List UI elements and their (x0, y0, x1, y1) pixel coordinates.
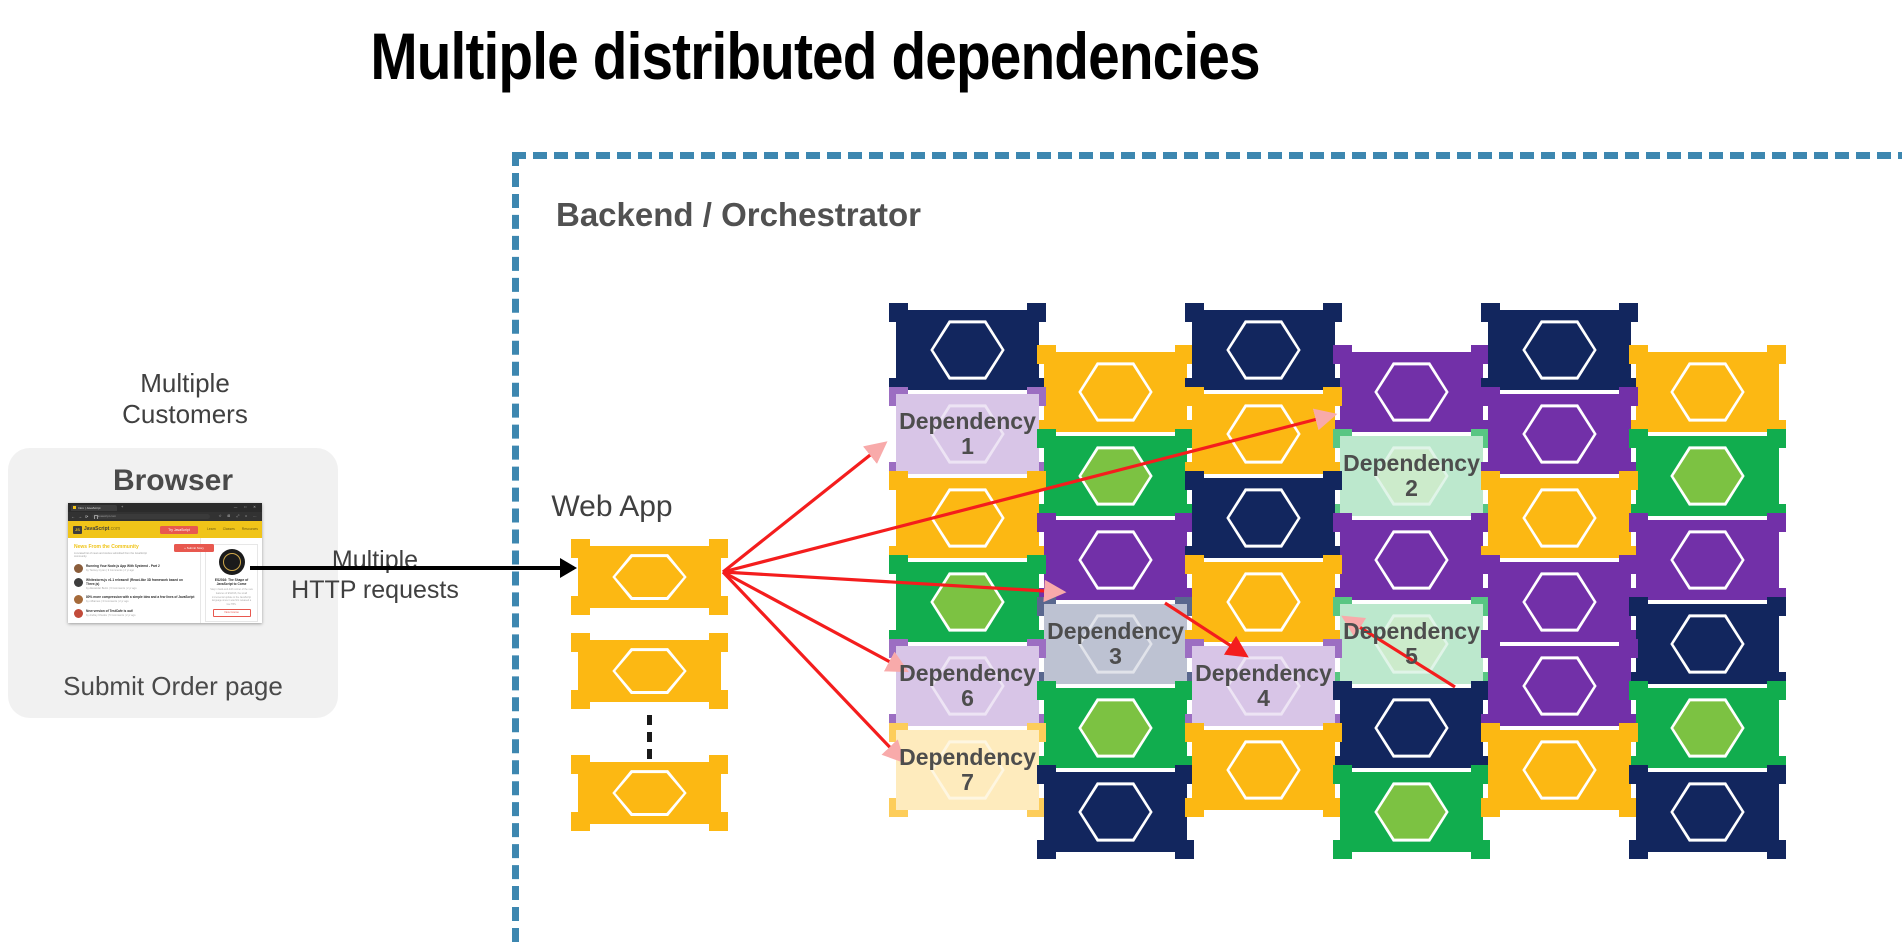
dependency-label: Dependency5 (1340, 604, 1483, 684)
hexagon-icon (1374, 698, 1448, 757)
thumbnail-sidebar-card: ES2016: The Shape of JavaScript to Come … (205, 544, 258, 622)
dependency-label: Dependency7 (896, 730, 1039, 810)
browser-title: Browser (8, 464, 338, 498)
service-icon (896, 562, 1039, 642)
customers-label-line1: Multiple (60, 368, 310, 399)
service-card[interactable] (1488, 310, 1631, 390)
hexagon-icon (1670, 782, 1744, 841)
thumbnail-story-text: Running Your Node.js App With Systemd - … (86, 564, 160, 573)
service-icon (1488, 730, 1631, 810)
service-card[interactable] (1192, 730, 1335, 810)
dependency-card[interactable]: Dependency6 (896, 646, 1039, 726)
service-card[interactable] (1044, 352, 1187, 432)
thumbnail-nav-link: Learn (207, 527, 216, 531)
dependency-label-number: 3 (1109, 644, 1122, 669)
web-app-instance[interactable] (578, 546, 721, 608)
service-card[interactable] (896, 478, 1039, 558)
hexagon-icon (1374, 362, 1448, 421)
hexagon-icon (1374, 530, 1448, 589)
hexagon-icon (1078, 446, 1152, 505)
web-app-instance[interactable] (578, 640, 721, 702)
service-card[interactable] (1488, 478, 1631, 558)
service-card[interactable] (1636, 436, 1779, 516)
hexagon-icon (612, 554, 686, 600)
service-icon (1488, 646, 1631, 726)
service-card[interactable] (1192, 310, 1335, 390)
thumbnail-headline-text: News From the Community (74, 544, 139, 550)
service-icon (1488, 478, 1631, 558)
hexagon-icon (1670, 530, 1744, 589)
dependency-label-number: 1 (961, 434, 974, 459)
slide-canvas: Multiple distributed dependencies Backen… (0, 0, 1902, 936)
dependency-label-text: Dependency (899, 409, 1036, 434)
thumbnail-site-brand: JavaScript.com (84, 526, 120, 532)
service-card[interactable] (1636, 352, 1779, 432)
service-card[interactable] (1044, 772, 1187, 852)
hexagon-icon (1670, 698, 1744, 757)
hexagon-icon (1226, 404, 1300, 463)
service-icon (578, 762, 721, 824)
thumbnail-story-item: Whitestorm.js v1.1 released! (React-like… (74, 578, 195, 590)
web-app-label: Web App (512, 490, 712, 524)
thumbnail-card-button: View Course (213, 609, 251, 617)
hexagon-icon (1078, 530, 1152, 589)
browser-screenshot-thumbnail: Intro | JavaScript + — □ ✕ ← → ⟳ javascr… (68, 503, 262, 623)
thumbnail-tab: Intro | JavaScript (71, 505, 117, 511)
thumbnail-card-title: ES2016: The Shape of JavaScript to Come (210, 578, 253, 586)
thumbnail-story-meta: by Alexander Buzin | 6 Comments | 2 yr a… (86, 587, 195, 590)
service-icon (1044, 688, 1187, 768)
hexagon-icon (1374, 782, 1448, 841)
service-card[interactable] (1340, 352, 1483, 432)
service-card[interactable] (1488, 394, 1631, 474)
hexagon-icon (1670, 362, 1744, 421)
thumbnail-url-bar: javascript.com (92, 514, 210, 520)
service-card[interactable] (1636, 520, 1779, 600)
dependency-label-number: 7 (961, 770, 974, 795)
service-card[interactable] (1044, 436, 1187, 516)
thumbnail-nav-link: Resources (242, 527, 258, 531)
service-icon (1044, 520, 1187, 600)
service-icon (1488, 310, 1631, 390)
hexagon-icon (1226, 740, 1300, 799)
dependency-card[interactable]: Dependency7 (896, 730, 1039, 810)
thumbnail-story-text: 80% more compression with a simple idea … (86, 595, 194, 604)
service-icon (578, 546, 721, 608)
hexagon-icon (1670, 614, 1744, 673)
thumbnail-toolbar-icons: ☆ ⊞ ⤢ ⌂ … (219, 514, 259, 518)
thumbnail-avatar-icon (74, 595, 83, 604)
thumbnail-back-icon: ← (71, 514, 75, 519)
dependency-card[interactable]: Dependency5 (1340, 604, 1483, 684)
web-app-ellipsis-connector (647, 715, 656, 759)
hexagon-icon (1522, 488, 1596, 547)
service-icon (1636, 688, 1779, 768)
service-card[interactable] (1636, 772, 1779, 852)
thumbnail-submit-story-button: + Submit Story (174, 544, 214, 552)
thumbnail-window-controls-icon: — □ ✕ (234, 505, 259, 509)
service-icon (896, 310, 1039, 390)
http-label-line2: HTTP requests (280, 575, 470, 605)
dependency-label-text: Dependency (1195, 661, 1332, 686)
service-icon (1192, 478, 1335, 558)
dependency-label: Dependency2 (1340, 436, 1483, 516)
hexagon-icon (1522, 320, 1596, 379)
thumbnail-story-item: New version of TestCafe is out!by Andrey… (74, 609, 195, 618)
thumbnail-avatar-icon (74, 578, 83, 587)
dependency-label-text: Dependency (899, 745, 1036, 770)
hexagon-icon (612, 770, 686, 816)
thumbnail-cta-button: Try JavaScript (160, 526, 198, 534)
thumbnail-story-item: Running Your Node.js App With Systemd - … (74, 564, 195, 573)
thumbnail-nav-links: Learn Classes Resources (207, 527, 258, 531)
thumbnail-tab-bar: Intro | JavaScript + — □ ✕ (68, 503, 262, 512)
thumbnail-story-item: 80% more compression with a simple idea … (74, 595, 195, 604)
service-card[interactable] (1488, 646, 1631, 726)
service-card[interactable] (896, 562, 1039, 642)
hexagon-icon (1522, 656, 1596, 715)
dependency-card[interactable]: Dependency3 (1044, 604, 1187, 684)
service-card[interactable] (1488, 562, 1631, 642)
thumbnail-nav-link: Classes (223, 527, 235, 531)
web-app-instance[interactable] (578, 762, 721, 824)
service-icon (578, 640, 721, 702)
dependency-label-number: 6 (961, 686, 974, 711)
hexagon-icon (1226, 488, 1300, 547)
dependency-label-text: Dependency (1343, 619, 1480, 644)
service-card[interactable] (1044, 520, 1187, 600)
customers-label-line2: Customers (60, 399, 310, 430)
service-card[interactable] (1488, 730, 1631, 810)
page-title: Multiple distributed dependencies (114, 18, 1516, 94)
thumbnail-story-meta: by Tierney Cyren | 9 Comments | 2 yr ago (86, 569, 160, 572)
service-icon (1636, 772, 1779, 852)
thumbnail-story-title: Running Your Node.js App With Systemd - … (86, 564, 160, 568)
browser-caption: Submit Order page (8, 671, 338, 702)
thumbnail-course-badge-icon (219, 549, 245, 575)
thumbnail-subtitle: A curated list of news and stories submi… (74, 552, 149, 560)
thumbnail-story-title: Whitestorm.js v1.1 released! (React-like… (86, 578, 195, 586)
service-icon (1192, 394, 1335, 474)
service-card[interactable] (1192, 394, 1335, 474)
dependency-card[interactable]: Dependency4 (1192, 646, 1335, 726)
service-icon (1340, 688, 1483, 768)
service-card[interactable] (1340, 688, 1483, 768)
hexagon-icon (612, 648, 686, 694)
hexagon-icon (1522, 572, 1596, 631)
dependency-label: Dependency4 (1192, 646, 1335, 726)
thumbnail-nav-bar: ← → ⟳ javascript.com ☆ ⊞ ⤢ ⌂ … (68, 512, 262, 521)
http-requests-arrow (250, 566, 574, 570)
thumbnail-avatar-icon (74, 564, 83, 573)
service-card[interactable] (1636, 688, 1779, 768)
hexagon-icon (1078, 362, 1152, 421)
dependency-label-number: 5 (1405, 644, 1418, 669)
hexagon-icon (1522, 404, 1596, 463)
service-icon (1044, 352, 1187, 432)
hexagon-icon (1078, 698, 1152, 757)
service-card[interactable] (1192, 478, 1335, 558)
service-icon (1636, 436, 1779, 516)
service-icon (1192, 730, 1335, 810)
dependency-label-number: 4 (1257, 686, 1270, 711)
service-card[interactable] (1044, 688, 1187, 768)
service-card[interactable] (896, 310, 1039, 390)
service-icon (1340, 772, 1483, 852)
service-icon (1192, 310, 1335, 390)
dependency-card[interactable]: Dependency1 (896, 394, 1039, 474)
thumbnail-story-title: 80% more compression with a simple idea … (86, 595, 194, 599)
hexagon-icon (1522, 740, 1596, 799)
service-icon (1340, 520, 1483, 600)
dependency-label-number: 2 (1405, 476, 1418, 501)
service-icon (1044, 436, 1187, 516)
hexagon-icon (930, 488, 1004, 547)
thumbnail-page-body: News From the Community A curated list o… (68, 538, 262, 623)
dependency-label: Dependency6 (896, 646, 1039, 726)
thumbnail-story-meta: by Andrey Chudov | 5 Comments | 2 yr ago (86, 614, 136, 617)
thumbnail-card-body: Stay in back-and-forth corner of the new… (210, 588, 253, 606)
hexagon-icon (1078, 782, 1152, 841)
dependency-label-text: Dependency (1047, 619, 1184, 644)
thumbnail-brand-tld: .com (109, 526, 120, 532)
thumbnail-story-text: Whitestorm.js v1.1 released! (React-like… (86, 578, 195, 590)
thumbnail-site-header: JS JavaScript.com Try JavaScript Learn C… (68, 521, 262, 538)
service-card[interactable] (1636, 604, 1779, 684)
thumbnail-story-title: New version of TestCafe is out! (86, 609, 136, 613)
hexagon-icon (930, 572, 1004, 631)
hexagon-icon (1226, 572, 1300, 631)
http-label-line1: Multiple (280, 545, 470, 575)
dependency-label-text: Dependency (1343, 451, 1480, 476)
service-card[interactable] (1340, 772, 1483, 852)
backend-orchestrator-title: Backend / Orchestrator (556, 196, 921, 234)
thumbnail-avatar-icon (74, 609, 83, 618)
hexagon-icon (1226, 320, 1300, 379)
thumbnail-story-text: New version of TestCafe is out!by Andrey… (86, 609, 136, 618)
dependency-label: Dependency3 (1044, 604, 1187, 684)
thumbnail-story-list: Running Your Node.js App With Systemd - … (74, 564, 195, 623)
service-card[interactable] (1340, 520, 1483, 600)
thumbnail-story-meta: by mfbarnes | 3 Comments | 2 yr ago (86, 600, 194, 603)
service-icon (1044, 772, 1187, 852)
thumbnail-new-tab-icon: + (121, 504, 123, 509)
service-icon (1192, 562, 1335, 642)
dependency-label: Dependency1 (896, 394, 1039, 474)
thumbnail-reload-icon: ⟳ (85, 514, 88, 519)
dependency-label-text: Dependency (899, 661, 1036, 686)
http-requests-label: Multiple HTTP requests (280, 545, 470, 605)
service-icon (1340, 352, 1483, 432)
multiple-customers-label: Multiple Customers (60, 368, 310, 429)
thumbnail-forward-icon: → (78, 514, 82, 519)
service-icon (1488, 562, 1631, 642)
service-icon (1636, 604, 1779, 684)
hexagon-icon (930, 320, 1004, 379)
hexagon-icon (1670, 446, 1744, 505)
dependency-card[interactable]: Dependency2 (1340, 436, 1483, 516)
service-card[interactable] (1192, 562, 1335, 642)
thumbnail-site-logo: JS (73, 526, 82, 534)
service-icon (896, 478, 1039, 558)
thumbnail-brand-name: JavaScript (84, 526, 109, 532)
service-icon (1636, 520, 1779, 600)
service-icon (1488, 394, 1631, 474)
service-icon (1636, 352, 1779, 432)
